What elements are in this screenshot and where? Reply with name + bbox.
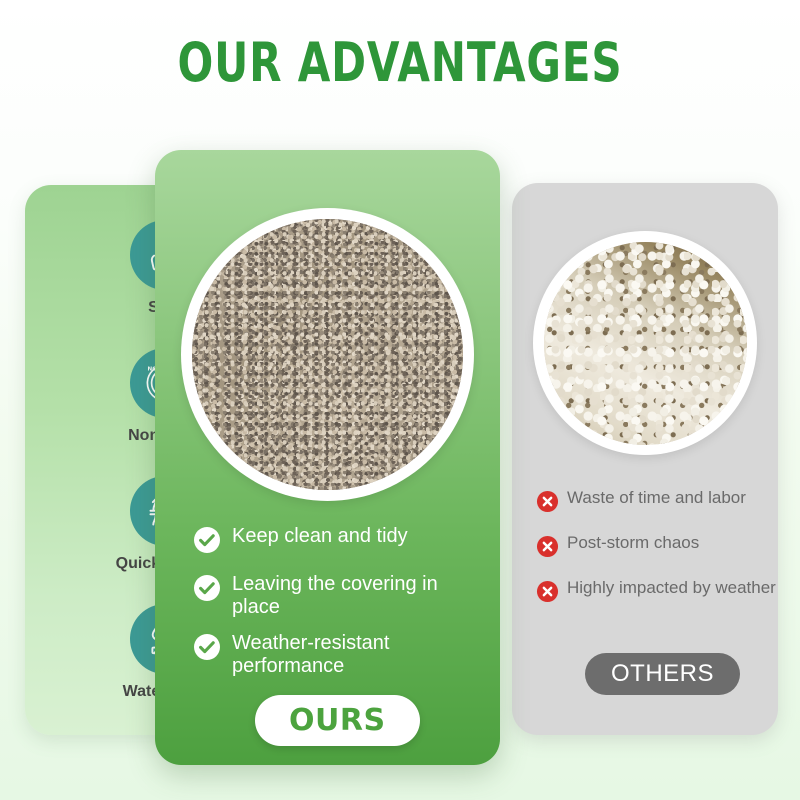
page-title: OUR ADVANTAGES (88, 36, 712, 90)
drawback-text: Highly impacted by weather (567, 578, 776, 599)
benefit-text: Weather-resistant performance (232, 632, 483, 677)
drawback-text: Post-storm chaos (567, 533, 699, 554)
others-card: Waste of time and labor Post-storm chaos… (512, 183, 778, 735)
ours-badge-label: OURS (289, 703, 386, 738)
others-badge: OTHERS (585, 653, 740, 695)
check-circle-icon (193, 574, 221, 607)
ours-badge: OURS (255, 695, 420, 746)
benefits-list: Keep clean and tidy Leaving the covering… (193, 525, 483, 691)
benefit-text: Leaving the covering in place (232, 573, 483, 618)
list-item: Keep clean and tidy (193, 525, 483, 559)
drawback-text: Waste of time and labor (567, 488, 746, 509)
list-item: Post-storm chaos (536, 533, 784, 563)
ours-card: Keep clean and tidy Leaving the covering… (155, 150, 500, 765)
list-item: Leaving the covering in place (193, 573, 483, 618)
fine-gravel-photo (192, 219, 463, 490)
ours-photo-frame (181, 208, 474, 501)
list-item: Waste of time and labor (536, 488, 784, 518)
list-item: Weather-resistant performance (193, 632, 483, 677)
list-item: Highly impacted by weather (536, 578, 784, 608)
coarse-gravel-photo (544, 242, 747, 445)
others-badge-label: OTHERS (611, 660, 714, 687)
benefit-text: Keep clean and tidy (232, 525, 408, 548)
others-photo-frame (533, 231, 757, 455)
check-circle-icon (193, 526, 221, 559)
check-circle-icon (193, 633, 221, 666)
x-circle-icon (536, 490, 559, 518)
x-circle-icon (536, 535, 559, 563)
drawbacks-list: Waste of time and labor Post-storm chaos… (536, 488, 784, 623)
x-circle-icon (536, 580, 559, 608)
